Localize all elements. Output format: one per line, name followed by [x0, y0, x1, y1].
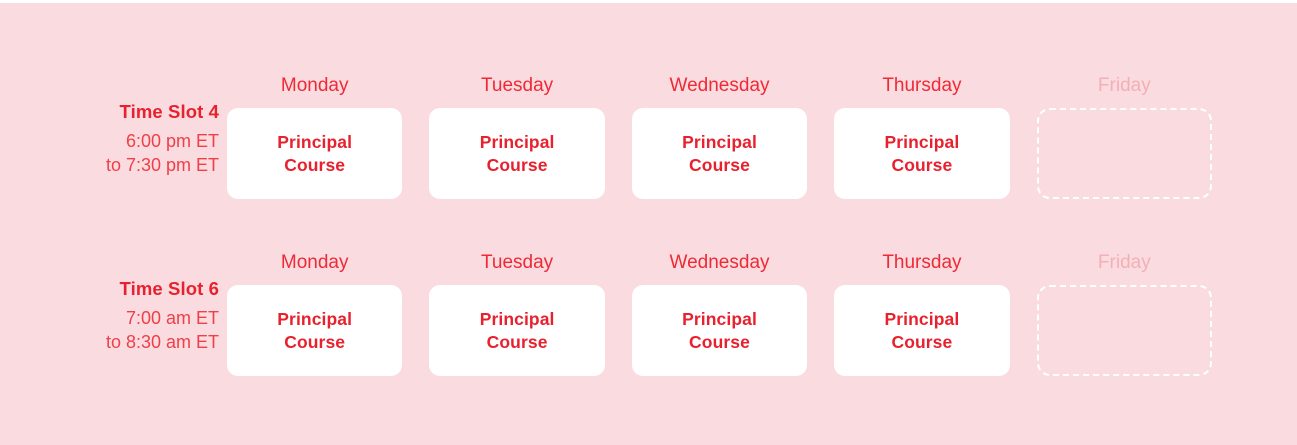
course-card-title: Principal Course: [480, 308, 555, 353]
course-title-line2: Course: [487, 155, 548, 175]
time-slot-label-group: Time Slot 6 7:00 am ET to 8:30 am ET: [0, 239, 227, 355]
time-slot-title: Time Slot 4: [0, 100, 219, 123]
schedule-board: Time Slot 4 6:00 pm ET to 7:30 pm ET Mon…: [0, 0, 1297, 445]
course-title-line1: Principal: [480, 309, 555, 329]
course-card-title: Principal Course: [885, 308, 960, 353]
day-column-tuesday: Tuesday Principal Course: [429, 239, 604, 376]
time-slot-range-end: to 8:30 am ET: [0, 331, 219, 355]
time-slot-range-start: 7:00 am ET: [0, 307, 219, 331]
course-title-line1: Principal: [682, 132, 757, 152]
course-title-line2: Course: [284, 332, 345, 352]
course-card-title: Principal Course: [885, 131, 960, 176]
course-title-line1: Principal: [682, 309, 757, 329]
course-card-thursday[interactable]: Principal Course: [834, 108, 1009, 199]
course-card-title: Principal Course: [480, 131, 555, 176]
day-column-friday: Friday: [1037, 62, 1212, 199]
course-card-wednesday[interactable]: Principal Course: [632, 108, 807, 199]
day-header-friday: Friday: [1037, 239, 1212, 285]
course-card-title: Principal Course: [682, 308, 757, 353]
course-title-line1: Principal: [885, 132, 960, 152]
course-card-tuesday[interactable]: Principal Course: [429, 285, 604, 376]
day-columns: Monday Principal Course Tuesday Principa…: [227, 62, 1297, 199]
course-card-monday[interactable]: Principal Course: [227, 108, 402, 199]
course-card-thursday[interactable]: Principal Course: [834, 285, 1009, 376]
course-card-title: Principal Course: [277, 131, 352, 176]
day-columns: Monday Principal Course Tuesday Principa…: [227, 239, 1297, 376]
course-card-wednesday[interactable]: Principal Course: [632, 285, 807, 376]
course-card-monday[interactable]: Principal Course: [227, 285, 402, 376]
course-title-line2: Course: [689, 155, 750, 175]
day-header-monday: Monday: [227, 239, 402, 285]
course-title-line1: Principal: [885, 309, 960, 329]
day-header-thursday: Thursday: [834, 239, 1009, 285]
day-header-wednesday: Wednesday: [632, 62, 807, 108]
course-card-title: Principal Course: [277, 308, 352, 353]
time-slot-range: 7:00 am ET to 8:30 am ET: [0, 307, 219, 355]
course-title-line1: Principal: [480, 132, 555, 152]
day-column-thursday: Thursday Principal Course: [834, 239, 1009, 376]
course-card-tuesday[interactable]: Principal Course: [429, 108, 604, 199]
day-column-monday: Monday Principal Course: [227, 239, 402, 376]
course-title-line2: Course: [891, 332, 952, 352]
course-title-line2: Course: [689, 332, 750, 352]
top-divider: [0, 0, 1297, 3]
day-column-thursday: Thursday Principal Course: [834, 62, 1009, 199]
course-title-line1: Principal: [277, 309, 352, 329]
schedule-row: Time Slot 4 6:00 pm ET to 7:30 pm ET Mon…: [0, 62, 1297, 192]
course-card-friday-empty[interactable]: [1037, 285, 1212, 376]
course-title-line2: Course: [891, 155, 952, 175]
time-slot-title: Time Slot 6: [0, 277, 219, 300]
day-header-monday: Monday: [227, 62, 402, 108]
day-header-friday: Friday: [1037, 62, 1212, 108]
day-column-monday: Monday Principal Course: [227, 62, 402, 199]
schedule-row: Time Slot 6 7:00 am ET to 8:30 am ET Mon…: [0, 239, 1297, 369]
time-slot-range: 6:00 pm ET to 7:30 pm ET: [0, 130, 219, 178]
day-column-wednesday: Wednesday Principal Course: [632, 62, 807, 199]
day-header-tuesday: Tuesday: [429, 62, 604, 108]
day-header-thursday: Thursday: [834, 62, 1009, 108]
day-column-wednesday: Wednesday Principal Course: [632, 239, 807, 376]
day-header-tuesday: Tuesday: [429, 239, 604, 285]
day-column-tuesday: Tuesday Principal Course: [429, 62, 604, 199]
day-column-friday: Friday: [1037, 239, 1212, 376]
course-card-friday-empty[interactable]: [1037, 108, 1212, 199]
course-title-line2: Course: [487, 332, 548, 352]
day-header-wednesday: Wednesday: [632, 239, 807, 285]
course-card-title: Principal Course: [682, 131, 757, 176]
time-slot-range-end: to 7:30 pm ET: [0, 154, 219, 178]
course-title-line1: Principal: [277, 132, 352, 152]
course-title-line2: Course: [284, 155, 345, 175]
time-slot-range-start: 6:00 pm ET: [0, 130, 219, 154]
time-slot-label-group: Time Slot 4 6:00 pm ET to 7:30 pm ET: [0, 62, 227, 178]
